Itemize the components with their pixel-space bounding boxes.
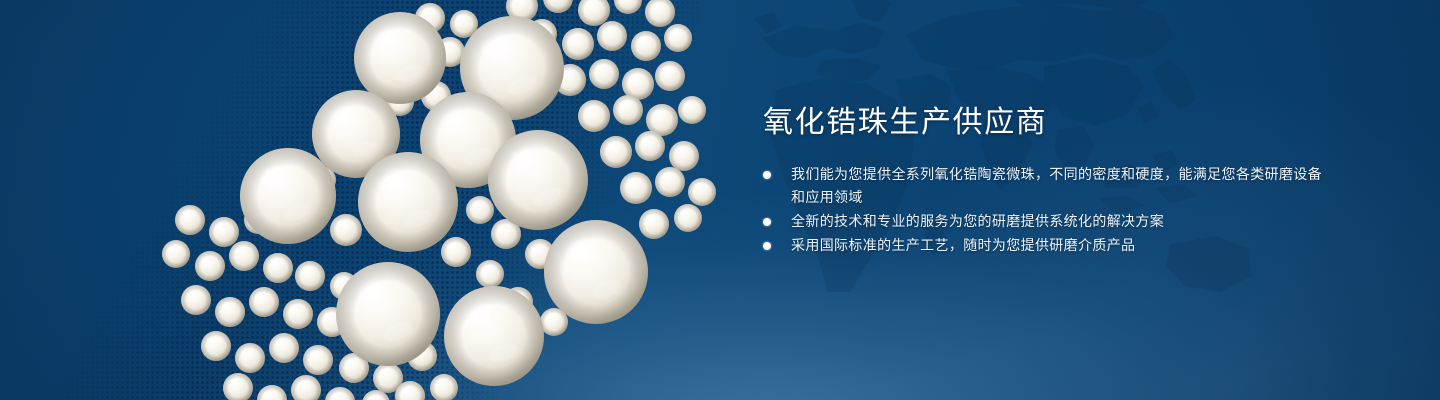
bullet-dot-icon <box>763 218 771 226</box>
bullet-text: 全新的技术和专业的服务为您的研磨提供系统化的解决方案 <box>791 213 1164 229</box>
banner-bullet-list: 我们能为您提供全系列氧化锆陶瓷微珠，不同的密度和硬度，能满足您各类研磨设备和应用… <box>763 163 1323 257</box>
list-item: 采用国际标准的生产工艺，随时为您提供研磨介质产品 <box>763 234 1323 257</box>
hero-banner: 氧化锆珠生产供应商 我们能为您提供全系列氧化锆陶瓷微珠，不同的密度和硬度，能满足… <box>0 0 1440 400</box>
list-item: 我们能为您提供全系列氧化锆陶瓷微珠，不同的密度和硬度，能满足您各类研磨设备和应用… <box>763 163 1323 209</box>
bullet-text: 我们能为您提供全系列氧化锆陶瓷微珠，不同的密度和硬度，能满足您各类研磨设备和应用… <box>791 166 1322 205</box>
banner-copy: 氧化锆珠生产供应商 我们能为您提供全系列氧化锆陶瓷微珠，不同的密度和硬度，能满足… <box>763 104 1323 258</box>
bullet-dot-icon <box>763 242 771 250</box>
list-item: 全新的技术和专业的服务为您的研磨提供系统化的解决方案 <box>763 210 1323 233</box>
banner-headline: 氧化锆珠生产供应商 <box>763 104 1323 142</box>
bullet-text: 采用国际标准的生产工艺，随时为您提供研磨介质产品 <box>791 237 1135 253</box>
bullet-dot-icon <box>763 171 771 179</box>
